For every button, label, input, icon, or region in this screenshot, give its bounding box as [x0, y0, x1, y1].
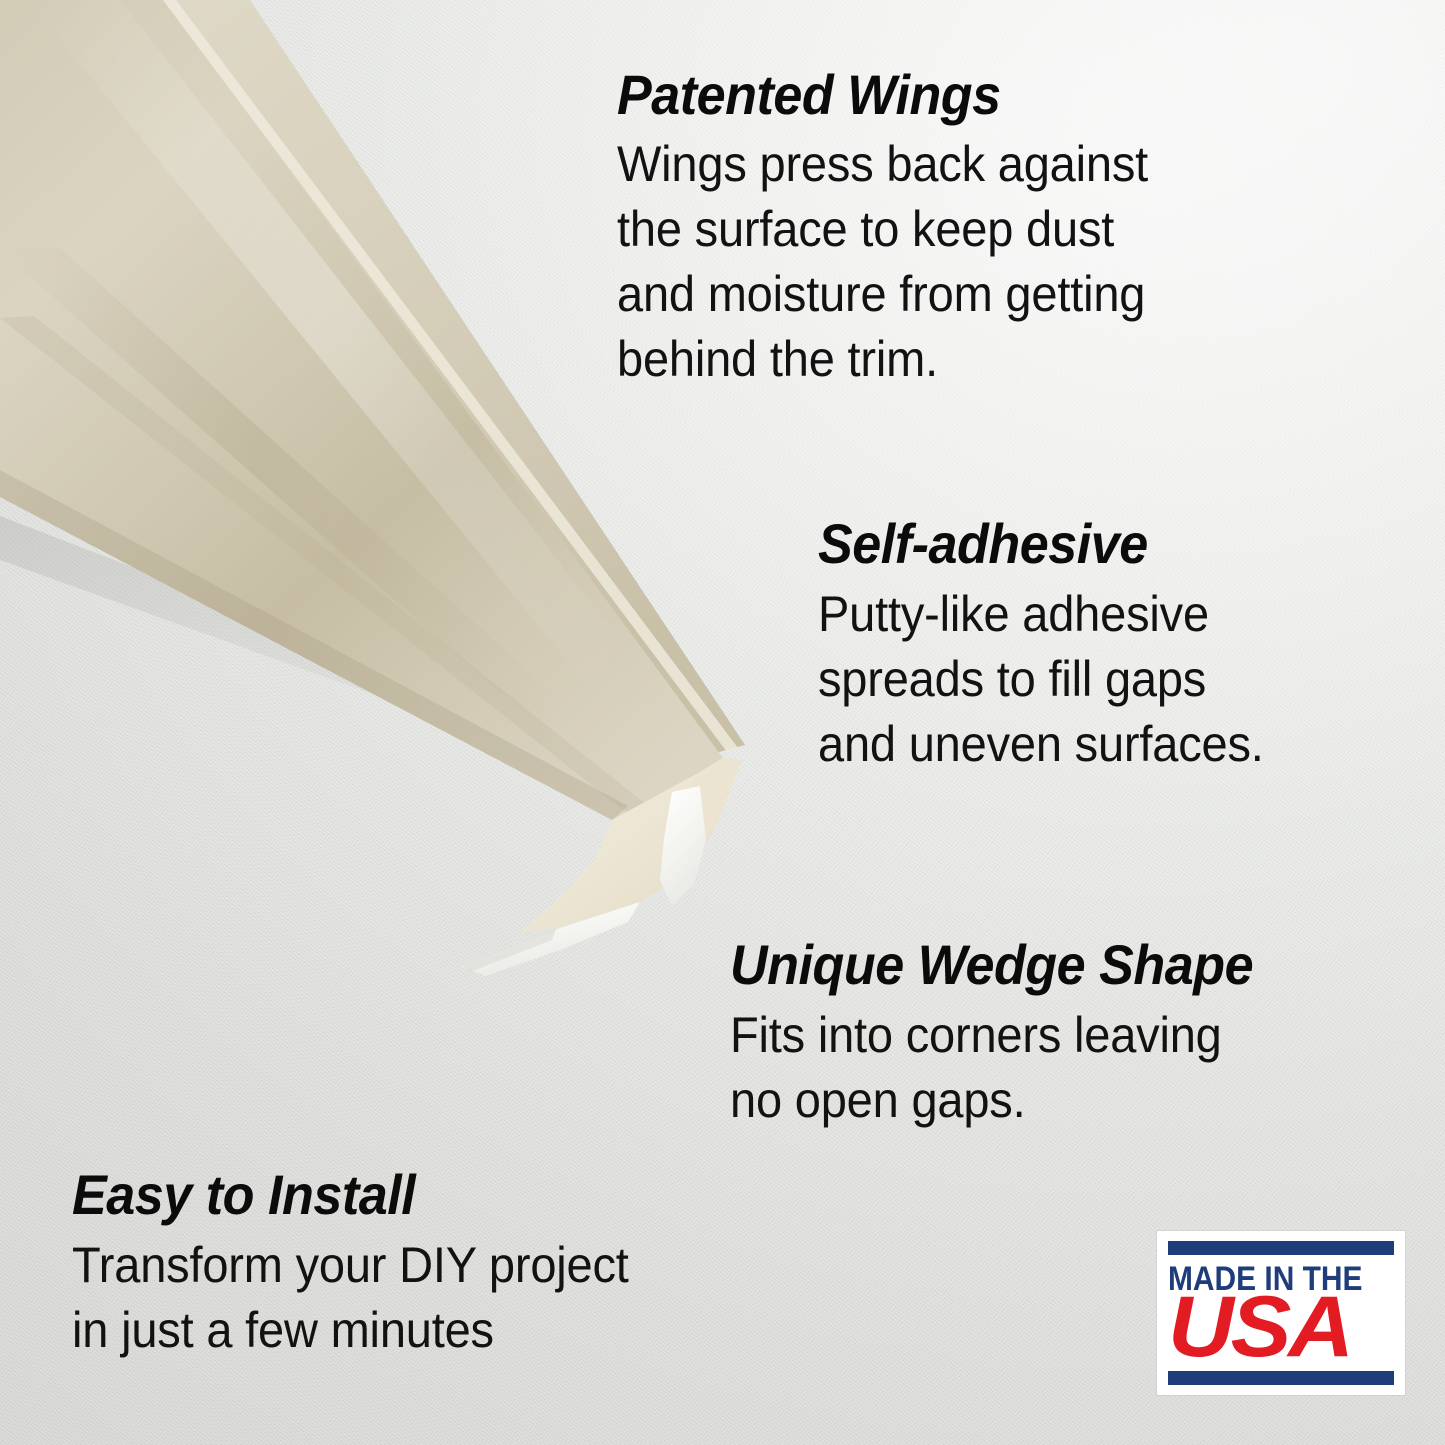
feature-heading-self-adhesive: Self-adhesive	[818, 515, 1259, 573]
feature-heading-patented-wings: Patented Wings	[617, 66, 1142, 124]
made-in-usa-badge: MADE IN THE USA	[1157, 1231, 1405, 1395]
feature-block-easy-to-install: Easy to Install Transform your DIY proje…	[72, 1166, 664, 1363]
feature-block-unique-wedge-shape: Unique Wedge Shape Fits into corners lea…	[730, 936, 1292, 1133]
infographic-canvas: Patented Wings Wings press back against …	[0, 0, 1445, 1445]
feature-heading-easy-to-install: Easy to Install	[72, 1166, 623, 1224]
feature-body-easy-to-install: Transform your DIY project in just a few…	[72, 1233, 629, 1363]
badge-top-bar	[1168, 1241, 1394, 1255]
feature-block-self-adhesive: Self-adhesive Putty-like adhesive spread…	[818, 515, 1292, 777]
badge-usa-text: USA	[1168, 1291, 1408, 1363]
badge-text-group: MADE IN THE USA	[1168, 1255, 1394, 1371]
feature-heading-unique-wedge-shape: Unique Wedge Shape	[730, 936, 1253, 994]
feature-body-patented-wings: Wings press back against the surface to …	[617, 132, 1148, 392]
feature-body-self-adhesive: Putty-like adhesive spreads to fill gaps…	[818, 582, 1264, 777]
feature-body-unique-wedge-shape: Fits into corners leaving no open gaps.	[730, 1003, 1259, 1133]
feature-block-patented-wings: Patented Wings Wings press back against …	[617, 66, 1182, 392]
